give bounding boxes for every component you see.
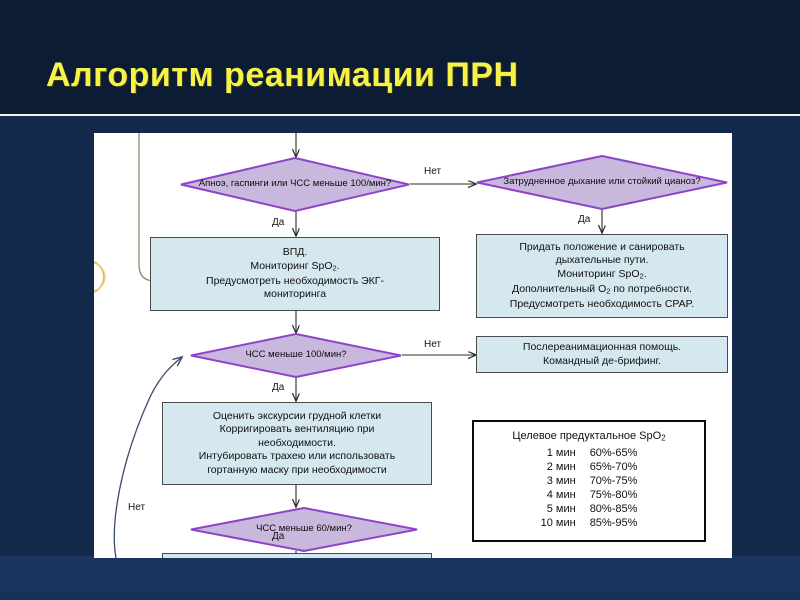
spo2-time: 1 мин xyxy=(537,446,580,460)
spo2-time: 10 мин xyxy=(537,516,580,530)
table-row: 10 мин 85%-95% xyxy=(537,516,642,530)
process-text: ВПД. Мониторинг SpO2. Предусмотреть необ… xyxy=(206,246,384,302)
process-line-4: Интубировать трахею или использовать xyxy=(199,450,395,464)
process-line-2: Корригировать вентиляцию при xyxy=(199,423,395,437)
process-post-resuscitation-care[interactable]: Послереанимационная помощь. Командный де… xyxy=(476,336,728,373)
process-position-airway-spo2-cpap[interactable]: Придать положение и санировать дыхательн… xyxy=(476,234,728,318)
process-ppv-spo2-ecg[interactable]: ВПД. Мониторинг SpO2. Предусмотреть необ… xyxy=(150,237,440,311)
decision-apnea-gasping-hr[interactable]: Апноэ, гаспинги или ЧСС меньше 100/мин? xyxy=(180,157,410,212)
decision-hr-below-100[interactable]: ЧСС меньше 100/мин? xyxy=(190,333,402,378)
decision-line-1: ЧСС меньше 100/мин? xyxy=(245,349,346,360)
diagram-panel: Апноэ, гаспинги или ЧСС меньше 100/мин? … xyxy=(94,133,732,558)
process-text: Придать положение и санировать дыхательн… xyxy=(510,241,694,312)
spo2-time: 5 мин xyxy=(537,502,580,516)
process-line-4: мониторинга xyxy=(206,288,384,302)
spo2-table-caption: Целевое предуктальное SpO2 xyxy=(484,430,694,443)
page-title: Алгоритм реанимации ПРН xyxy=(46,56,519,95)
spo2-range: 60%-65% xyxy=(580,446,642,460)
process-line-1: ВПД. xyxy=(206,246,384,260)
edge-label-d3-no: Нет xyxy=(424,339,441,350)
spo2-time: 2 мин xyxy=(537,460,580,474)
decision-labored-breathing-cyanosis[interactable]: Затрудненное дыхание или стойкий цианоз? xyxy=(476,155,728,210)
spo2-range: 85%-95% xyxy=(580,516,642,530)
slide: Алгоритм реанимации ПРН xyxy=(0,0,800,600)
spo2-range: 70%-75% xyxy=(580,474,642,488)
spo2-range: 75%-80% xyxy=(580,488,642,502)
decision-line-2: меньше 100/мин? xyxy=(313,178,391,189)
spo2-range: 80%-85% xyxy=(580,502,642,516)
process-text: Послереанимационная помощь. Командный де… xyxy=(523,341,681,368)
spo2-rows: 1 мин 60%-65% 2 мин 65%-70% 3 мин 70%-75… xyxy=(537,446,642,530)
decision-hr-below-60[interactable]: ЧСС меньше 60/мин? xyxy=(190,507,418,552)
edge-label-d3-yes: Да xyxy=(272,382,284,393)
edge-label-d2-yes: Да xyxy=(578,214,590,225)
slide-footer-rule xyxy=(0,592,800,600)
table-row: 4 мин 75%-80% xyxy=(537,488,642,502)
spo2-caption-text: Целевое предуктальное SpO xyxy=(512,430,661,442)
spo2-time: 4 мин xyxy=(537,488,580,502)
edge-label-d4-yes: Да xyxy=(272,531,284,542)
edge-label-d1-no: Нет xyxy=(424,166,441,177)
decision-label: ЧСС меньше 60/мин? xyxy=(190,507,418,552)
process-bottom-clipped[interactable] xyxy=(162,553,432,558)
process-line-5: Предусмотреть необходимость CPAP. xyxy=(510,298,694,312)
edge-label-d1-yes: Да xyxy=(272,217,284,228)
process-line-3: Предусмотреть необходимость ЭКГ- xyxy=(206,275,384,289)
spo2-target-table: Целевое предуктальное SpO2 1 мин 60%-65%… xyxy=(472,420,706,542)
process-chest-excursion-intubation[interactable]: Оценить экскурсии грудной клетки Корриги… xyxy=(162,402,432,485)
decision-line-2: или стойкий цианоз? xyxy=(609,176,701,187)
table-row: 3 мин 70%-75% xyxy=(537,474,642,488)
spo2-time: 3 мин xyxy=(537,474,580,488)
decision-label: Апноэ, гаспинги или ЧСС меньше 100/мин? xyxy=(180,157,410,212)
table-row: 1 мин 60%-65% xyxy=(537,446,642,460)
decision-line-1: ЧСС меньше 60/мин? xyxy=(256,523,352,534)
process-line-3: Мониторинг SpO2. xyxy=(510,268,694,283)
process-line-3: необходимости. xyxy=(199,437,395,451)
table-row: 5 мин 80%-85% xyxy=(537,502,642,516)
process-line-2: Командный де-брифинг. xyxy=(523,355,681,369)
decision-line-1: Затрудненное дыхание xyxy=(503,176,606,187)
process-line-1: Придать положение и санировать xyxy=(510,241,694,255)
process-line-5: гортанную маску при необходимости xyxy=(199,464,395,478)
process-line-2: Мониторинг SpO2. xyxy=(206,260,384,275)
decision-label: ЧСС меньше 100/мин? xyxy=(190,333,402,378)
process-line-1: Оценить экскурсии грудной клетки xyxy=(199,410,395,424)
edge-label-loop-no: Нет xyxy=(128,502,145,513)
spo2-range: 65%-70% xyxy=(580,460,642,474)
process-line-2: дыхательные пути. xyxy=(510,254,694,268)
process-line-1: Послереанимационная помощь. xyxy=(523,341,681,355)
process-text: Оценить экскурсии грудной клетки Корриги… xyxy=(199,410,395,478)
spo2-caption-subscript: 2 xyxy=(661,434,665,443)
process-line-4: Дополнительный O2 по потребности. xyxy=(510,283,694,298)
decision-label: Затрудненное дыхание или стойкий цианоз? xyxy=(476,155,728,210)
decision-line-1: Апноэ, гаспинги или ЧСС xyxy=(199,178,310,189)
table-row: 2 мин 65%-70% xyxy=(537,460,642,474)
